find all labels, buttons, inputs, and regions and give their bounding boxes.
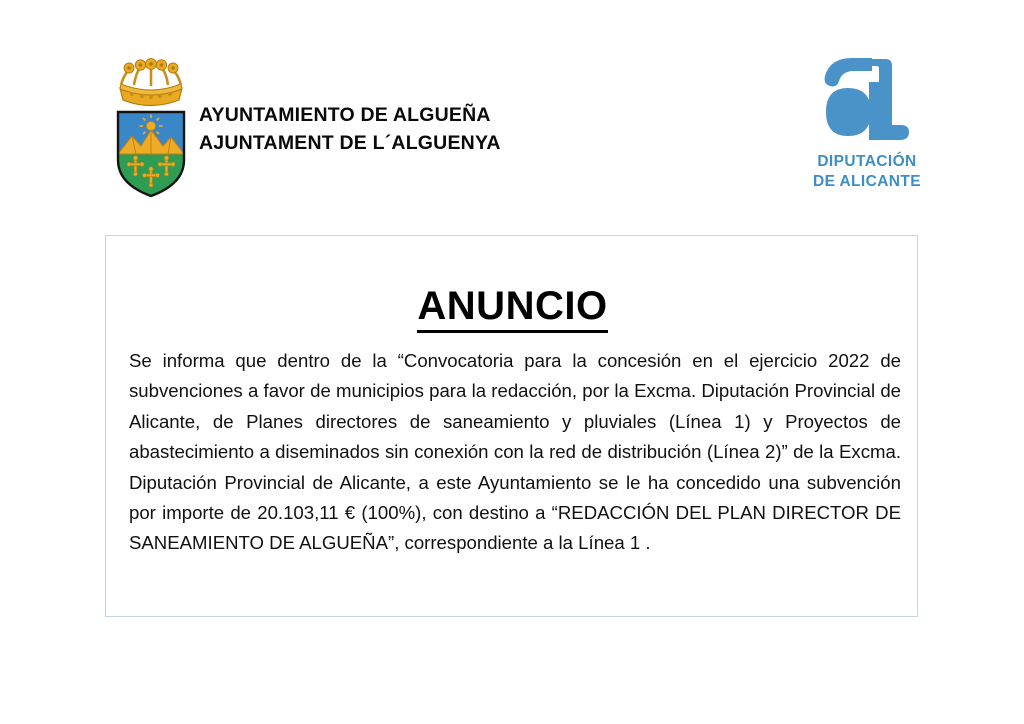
diputacion-line-1: DIPUTACIÓN xyxy=(806,152,928,172)
coat-of-arms-icon xyxy=(108,56,194,198)
page-title-text: ANUNCIO xyxy=(417,284,607,333)
municipality-title-es: AYUNTAMIENTO DE ALGUEÑA xyxy=(199,102,501,130)
announcement-box: ANUNCIO Se informa que dentro de la “Con… xyxy=(105,235,918,617)
municipality-titles: AYUNTAMIENTO DE ALGUEÑA AJUNTAMENT DE L´… xyxy=(199,102,501,157)
diputacion-a-monogram-icon xyxy=(812,54,916,150)
diputacion-alicante-logo: DIPUTACIÓN DE ALICANTE xyxy=(806,54,928,189)
document-header: AYUNTAMIENTO DE ALGUEÑA AJUNTAMENT DE L´… xyxy=(0,0,1024,210)
announcement-body: Se informa que dentro de la “Convocatori… xyxy=(129,346,901,559)
page-title: ANUNCIO xyxy=(106,284,919,329)
diputacion-wordmark: DIPUTACIÓN DE ALICANTE xyxy=(806,152,928,192)
municipality-title-va: AJUNTAMENT DE L´ALGUENYA xyxy=(199,130,501,158)
diputacion-line-2: DE ALICANTE xyxy=(806,172,928,192)
announcement-paragraph: Se informa que dentro de la “Convocatori… xyxy=(129,346,901,559)
